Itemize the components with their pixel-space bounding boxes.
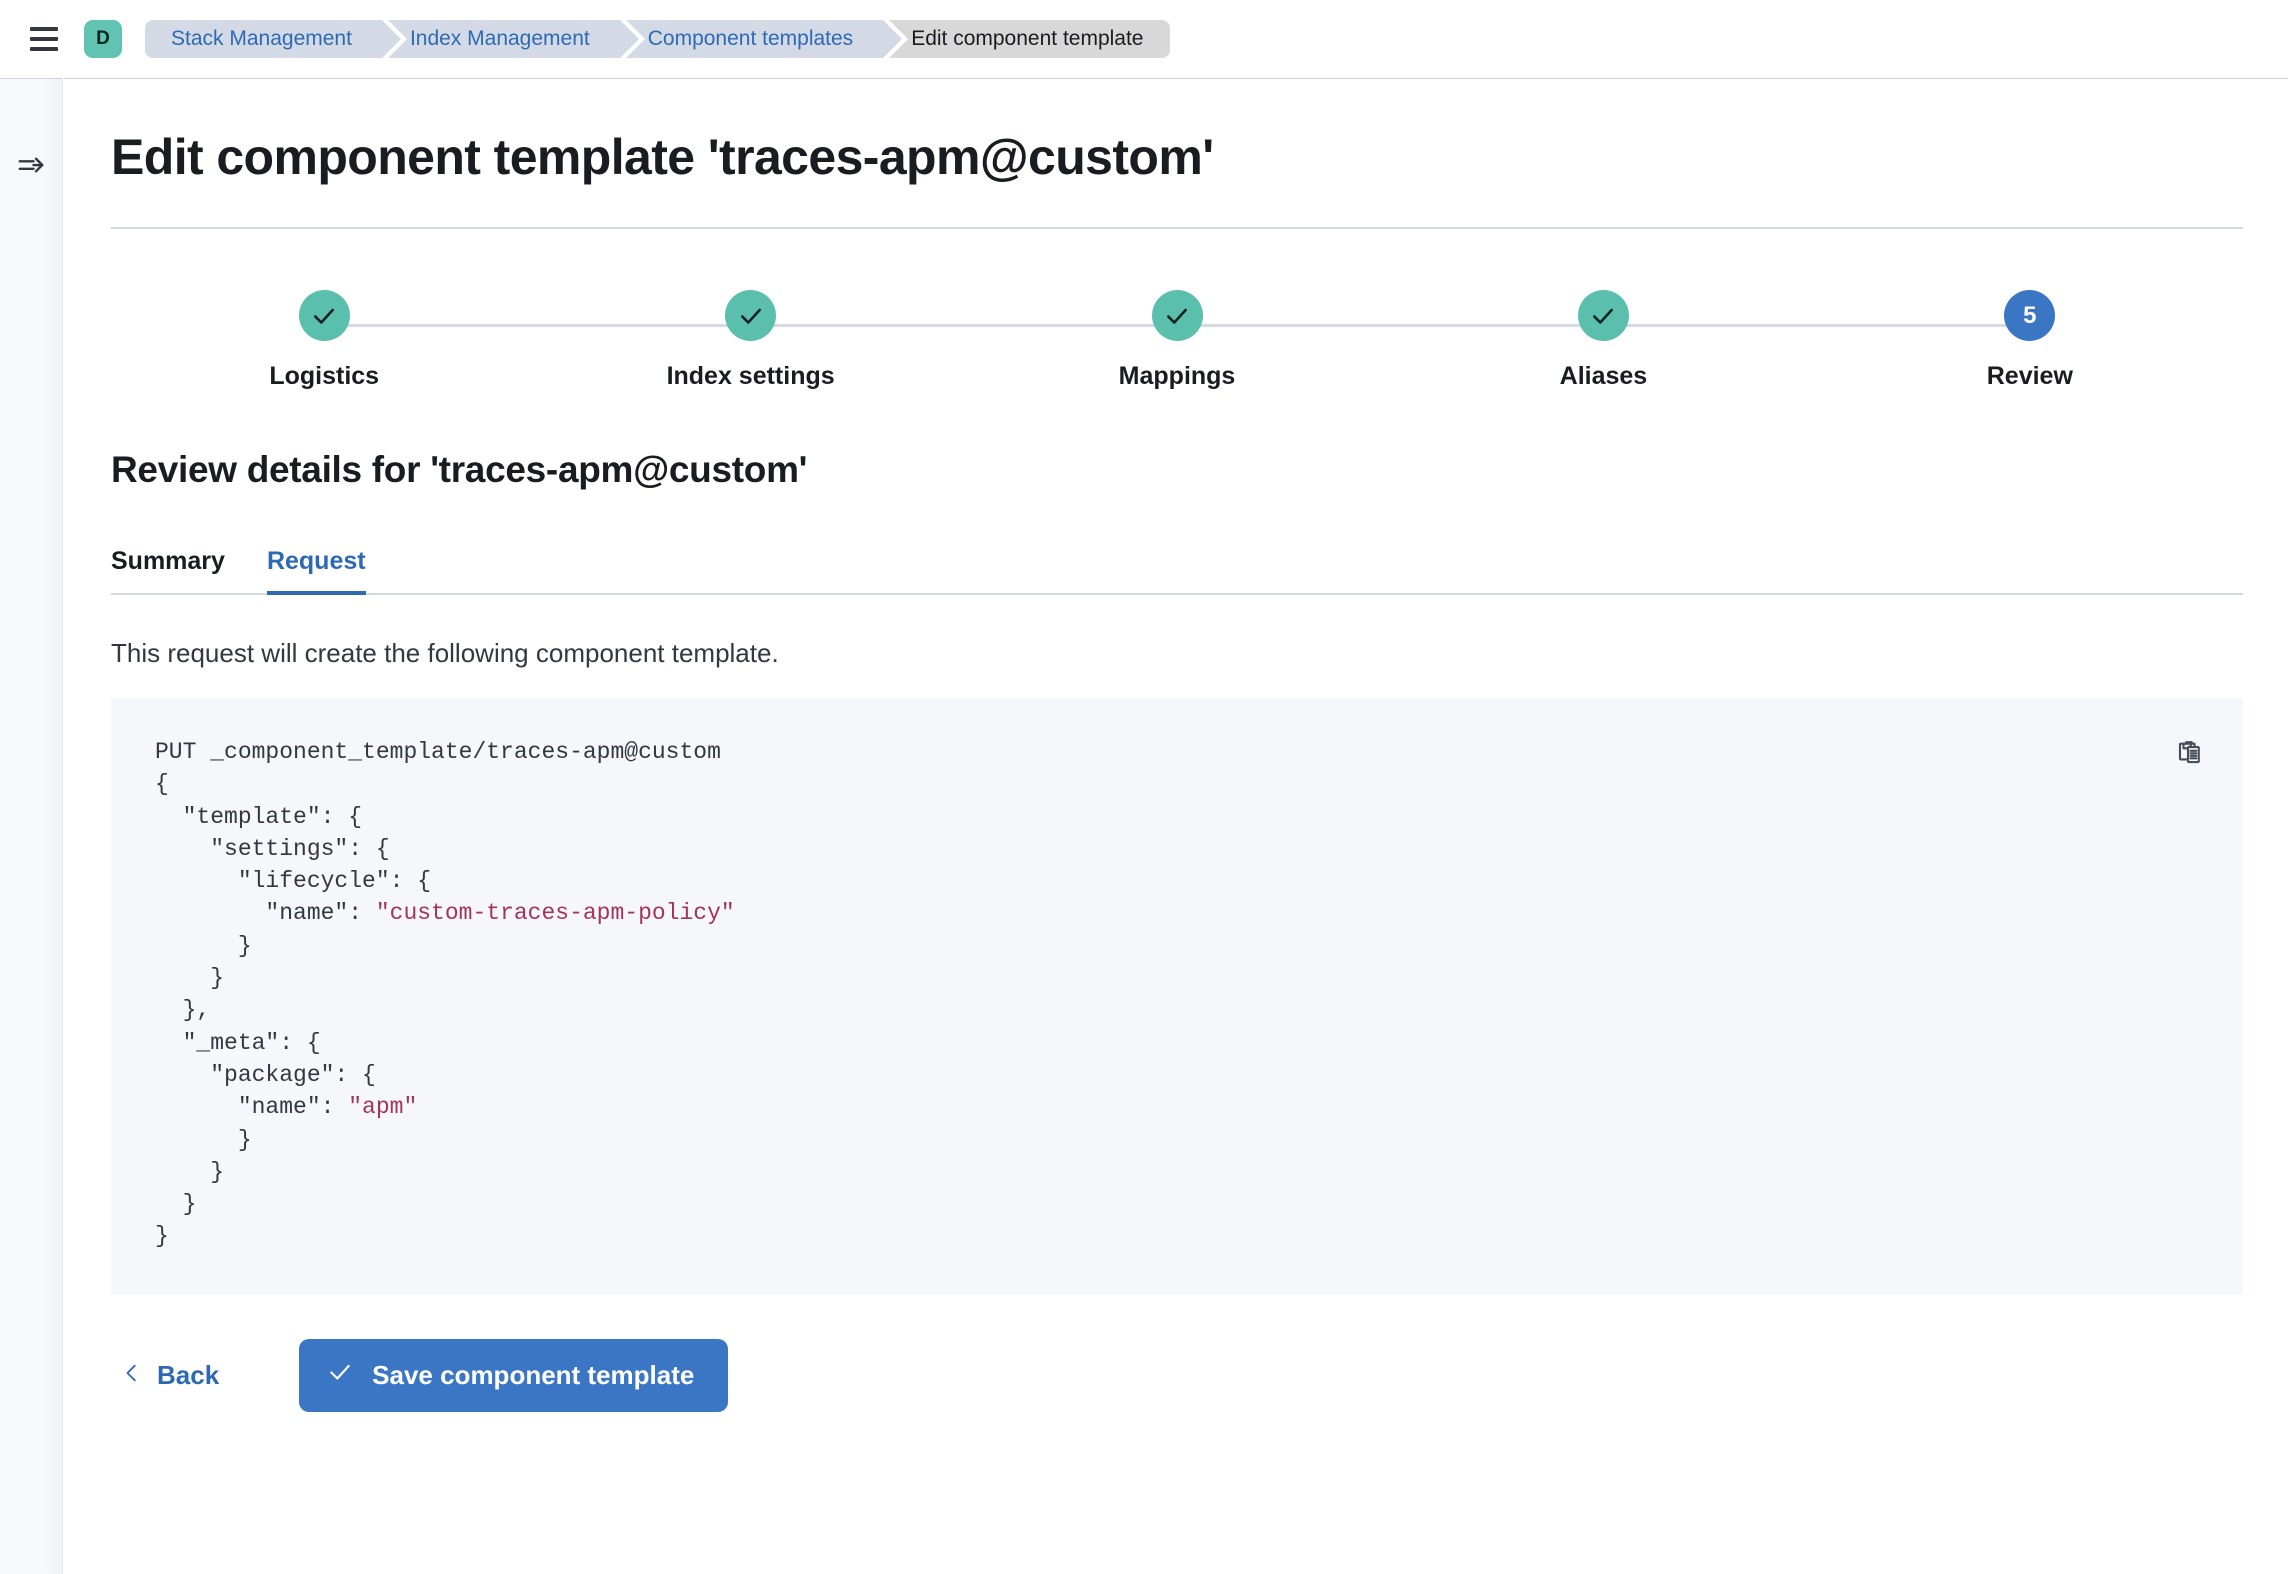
step-number: 5	[2023, 302, 2036, 330]
breadcrumb: Stack Management Index Management Compon…	[145, 20, 1170, 58]
review-section-title: Review details for 'traces-apm@custom'	[111, 449, 2288, 491]
top-navigation-bar: D Stack Management Index Management Comp…	[0, 0, 2288, 78]
back-button[interactable]: Back	[111, 1350, 233, 1401]
step-status-complete-icon	[1152, 290, 1203, 341]
save-component-template-button[interactable]: Save component template	[299, 1339, 728, 1412]
step-label: Aliases	[1560, 362, 1648, 391]
code-line: "settings": {	[155, 836, 390, 862]
step-status-current: 5	[2004, 290, 2055, 341]
step-aliases[interactable]: Aliases	[1390, 290, 1816, 391]
page-title: Edit component template 'traces-apm@cust…	[111, 128, 2288, 186]
avatar[interactable]: D	[84, 20, 122, 58]
code-line: "lifecycle": {	[155, 868, 431, 894]
save-button-label: Save component template	[372, 1360, 694, 1391]
hamburger-bar	[30, 47, 58, 51]
code-line: }	[155, 1127, 252, 1153]
code-string-value: "apm"	[348, 1094, 417, 1120]
request-code-block: PUT _component_template/traces-apm@custo…	[111, 698, 2243, 1295]
step-mappings[interactable]: Mappings	[964, 290, 1390, 391]
request-intro-text: This request will create the following c…	[111, 638, 2288, 669]
tab-request[interactable]: Request	[267, 547, 366, 593]
code-line: },	[155, 997, 210, 1023]
code-line: }	[155, 1223, 169, 1249]
hamburger-bar	[30, 37, 58, 41]
code-string-value: "custom-traces-apm-policy"	[376, 900, 735, 926]
check-icon	[327, 1359, 353, 1392]
left-sidebar-rail	[0, 78, 63, 1574]
chevron-left-icon	[121, 1360, 143, 1391]
code-line: }	[155, 1159, 224, 1185]
code-line: }	[155, 933, 252, 959]
breadcrumb-item-index-management[interactable]: Index Management	[388, 20, 620, 58]
code-line: }	[155, 965, 224, 991]
breadcrumb-item-stack-management[interactable]: Stack Management	[145, 20, 382, 58]
review-tabs: Summary Request	[111, 537, 2243, 595]
code-line: "_meta": {	[155, 1030, 321, 1056]
step-status-complete-icon	[1578, 290, 1629, 341]
code-line: "template": {	[155, 804, 362, 830]
code-method-line: PUT _component_template/traces-apm@custo…	[155, 739, 721, 765]
copy-clipboard-icon[interactable]	[2172, 734, 2210, 772]
step-logistics[interactable]: Logistics	[111, 290, 537, 391]
step-index-settings[interactable]: Index settings	[537, 290, 963, 391]
step-label: Review	[1987, 362, 2073, 391]
step-status-complete-icon	[299, 290, 350, 341]
main-content-panel: Edit component template 'traces-apm@cust…	[64, 78, 2288, 1574]
step-status-complete-icon	[725, 290, 776, 341]
tab-summary[interactable]: Summary	[111, 547, 225, 593]
code-line: }	[155, 1191, 196, 1217]
breadcrumb-item-component-templates[interactable]: Component templates	[626, 20, 883, 58]
hamburger-menu-icon[interactable]	[22, 17, 66, 61]
title-divider	[111, 227, 2243, 229]
wizard-actions: Back Save component template	[111, 1339, 2243, 1412]
code-line: "name":	[155, 900, 376, 926]
code-line: "name":	[155, 1094, 348, 1120]
step-label: Logistics	[269, 362, 379, 391]
request-json: PUT _component_template/traces-apm@custo…	[155, 736, 2203, 1253]
step-review[interactable]: 5 Review	[1817, 290, 2243, 391]
breadcrumb-item-edit-component-template[interactable]: Edit component template	[889, 20, 1169, 58]
expand-sidebar-icon[interactable]	[13, 147, 49, 183]
back-button-label: Back	[157, 1360, 219, 1391]
hamburger-bar	[30, 27, 58, 31]
wizard-stepper: Logistics Index settings Mappings	[111, 290, 2243, 391]
code-line: {	[155, 771, 169, 797]
step-label: Index settings	[667, 362, 835, 391]
step-label: Mappings	[1119, 362, 1236, 391]
code-line: "package": {	[155, 1062, 376, 1088]
